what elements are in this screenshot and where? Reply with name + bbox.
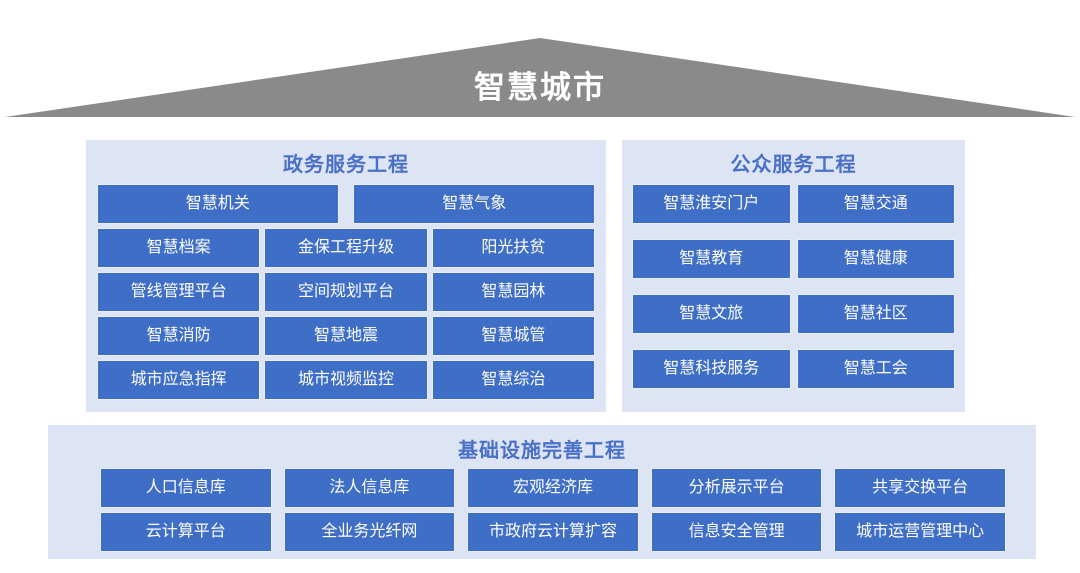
- government-row-5: 城市应急指挥 城市视频监控 智慧综治: [97, 360, 595, 400]
- tile-infrastructure[interactable]: 信息安全管理: [651, 512, 823, 552]
- tile-public[interactable]: 智慧健康: [797, 239, 956, 279]
- panel-title-public: 公众服务工程: [622, 148, 965, 177]
- tile-infrastructure[interactable]: 云计算平台: [100, 512, 272, 552]
- government-row-3: 管线管理平台 空间规划平台 智慧园林: [97, 272, 595, 312]
- panel-infrastructure: 基础设施完善工程 人口信息库 法人信息库 宏观经济库 分析展示平台 共享交换平台…: [48, 425, 1036, 559]
- tile-government[interactable]: 智慧机关: [97, 184, 339, 224]
- tile-public[interactable]: 智慧社区: [797, 294, 956, 334]
- public-row-1: 智慧淮安门户 智慧交通: [632, 184, 955, 224]
- tile-government[interactable]: 智慧地震: [264, 316, 427, 356]
- tile-infrastructure[interactable]: 法人信息库: [284, 468, 456, 508]
- infrastructure-row-1: 人口信息库 法人信息库 宏观经济库 分析展示平台 共享交换平台: [100, 468, 1006, 508]
- tile-public[interactable]: 智慧淮安门户: [632, 184, 791, 224]
- tile-infrastructure[interactable]: 全业务光纤网: [284, 512, 456, 552]
- tile-government[interactable]: 智慧气象: [353, 184, 595, 224]
- infrastructure-row-2: 云计算平台 全业务光纤网 市政府云计算扩容 信息安全管理 城市运营管理中心: [100, 512, 1006, 552]
- panel-title-infrastructure: 基础设施完善工程: [48, 434, 1036, 463]
- tile-government[interactable]: 智慧园林: [432, 272, 595, 312]
- government-row-4: 智慧消防 智慧地震 智慧城管: [97, 316, 595, 356]
- panel-government-services: 政务服务工程 智慧机关 智慧气象 智慧档案 金保工程升级 阳光扶贫 管线管理平台…: [86, 140, 606, 412]
- tile-government[interactable]: 管线管理平台: [97, 272, 260, 312]
- diagram-title: 智慧城市: [0, 72, 1080, 103]
- tile-infrastructure[interactable]: 宏观经济库: [467, 468, 639, 508]
- tile-government[interactable]: 城市应急指挥: [97, 360, 260, 400]
- government-row-2: 智慧档案 金保工程升级 阳光扶贫: [97, 228, 595, 268]
- roof-banner: 智慧城市: [0, 0, 1080, 120]
- smart-city-diagram: 智慧城市 政务服务工程 智慧机关 智慧气象 智慧档案 金保工程升级 阳光扶贫 管…: [0, 0, 1080, 573]
- tile-infrastructure[interactable]: 人口信息库: [100, 468, 272, 508]
- government-tile-grid: 智慧机关 智慧气象 智慧档案 金保工程升级 阳光扶贫 管线管理平台 空间规划平台…: [97, 184, 595, 400]
- tile-government[interactable]: 智慧综治: [432, 360, 595, 400]
- tile-government[interactable]: 智慧消防: [97, 316, 260, 356]
- tile-infrastructure[interactable]: 城市运营管理中心: [834, 512, 1006, 552]
- tile-government[interactable]: 智慧城管: [432, 316, 595, 356]
- tile-government[interactable]: 阳光扶贫: [432, 228, 595, 268]
- tile-government[interactable]: 智慧档案: [97, 228, 260, 268]
- tile-public[interactable]: 智慧教育: [632, 239, 791, 279]
- tile-public[interactable]: 智慧交通: [797, 184, 956, 224]
- public-row-4: 智慧科技服务 智慧工会: [632, 349, 955, 389]
- tile-infrastructure[interactable]: 分析展示平台: [651, 468, 823, 508]
- infrastructure-tile-grid: 人口信息库 法人信息库 宏观经济库 分析展示平台 共享交换平台 云计算平台 全业…: [100, 468, 1006, 552]
- tile-government[interactable]: 空间规划平台: [264, 272, 427, 312]
- public-row-3: 智慧文旅 智慧社区: [632, 294, 955, 334]
- public-row-2: 智慧教育 智慧健康: [632, 239, 955, 279]
- tile-government[interactable]: 城市视频监控: [264, 360, 427, 400]
- public-tile-grid: 智慧淮安门户 智慧交通 智慧教育 智慧健康 智慧文旅 智慧社区 智慧科技服务 智…: [632, 184, 955, 389]
- tile-infrastructure[interactable]: 共享交换平台: [834, 468, 1006, 508]
- panel-title-government: 政务服务工程: [86, 148, 606, 177]
- tile-public[interactable]: 智慧科技服务: [632, 349, 791, 389]
- panel-public-services: 公众服务工程 智慧淮安门户 智慧交通 智慧教育 智慧健康 智慧文旅 智慧社区 智…: [622, 140, 965, 412]
- tile-infrastructure[interactable]: 市政府云计算扩容: [467, 512, 639, 552]
- tile-government[interactable]: 金保工程升级: [264, 228, 427, 268]
- tile-public[interactable]: 智慧工会: [797, 349, 956, 389]
- government-row-1: 智慧机关 智慧气象: [97, 184, 595, 224]
- tile-public[interactable]: 智慧文旅: [632, 294, 791, 334]
